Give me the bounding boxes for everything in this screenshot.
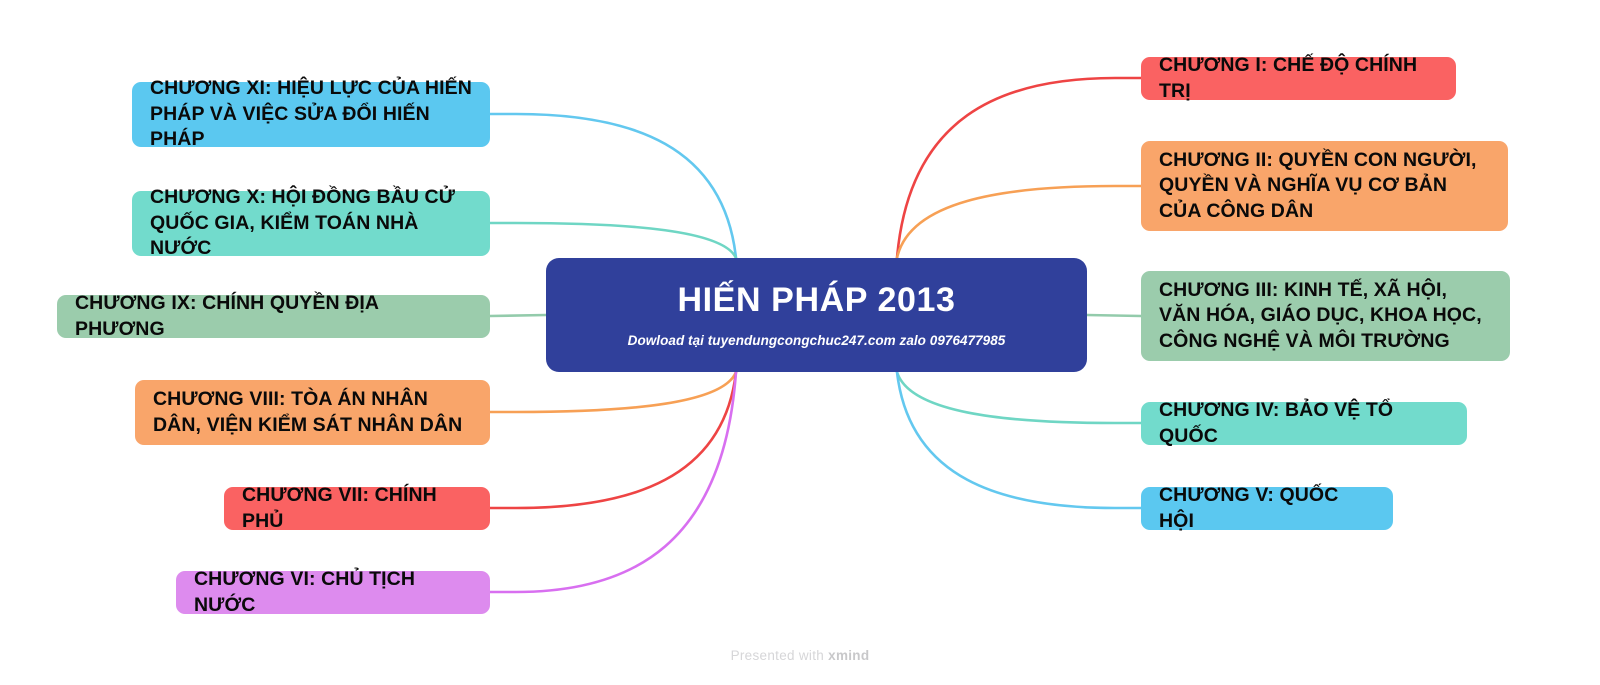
connector-edge [490, 372, 736, 412]
central-topic-title: HIẾN PHÁP 2013 [677, 282, 955, 319]
topic-node-label: CHƯƠNG VI: CHỦ TỊCH NƯỚC [194, 567, 472, 618]
topic-node-label: CHƯƠNG IV: BẢO VỆ TỔ QUỐC [1159, 398, 1449, 449]
topic-node[interactable]: CHƯƠNG XI: HIỆU LỰC CỦA HIẾN PHÁP VÀ VIỆ… [132, 82, 490, 147]
connector-edge [1087, 315, 1141, 316]
connector-edge [897, 78, 1141, 258]
topic-node[interactable]: CHƯƠNG IX: CHÍNH QUYỀN ĐỊA PHƯƠNG [57, 295, 490, 338]
topic-node-label: CHƯƠNG II: QUYỀN CON NGƯỜI, QUYỀN VÀ NGH… [1159, 148, 1490, 224]
xmind-watermark: Presented with xmind [0, 648, 1600, 663]
connector-edge [490, 372, 736, 592]
watermark-prefix: Presented with [731, 648, 829, 663]
connector-edge [897, 372, 1141, 423]
connector-edge [490, 315, 546, 316]
topic-node[interactable]: CHƯƠNG II: QUYỀN CON NGƯỜI, QUYỀN VÀ NGH… [1141, 141, 1508, 231]
connector-edge [897, 372, 1141, 508]
topic-node-label: CHƯƠNG VIII: TÒA ÁN NHÂN DÂN, VIỆN KIỂM … [153, 387, 472, 438]
connector-edge [490, 372, 736, 508]
connector-edge [490, 114, 736, 258]
topic-node[interactable]: CHƯƠNG VIII: TÒA ÁN NHÂN DÂN, VIỆN KIỂM … [135, 380, 490, 445]
topic-node[interactable]: CHƯƠNG VI: CHỦ TỊCH NƯỚC [176, 571, 490, 614]
topic-node-label: CHƯƠNG VII: CHÍNH PHỦ [242, 483, 472, 534]
central-topic-subtitle: Dowload tại tuyendungcongchuc247.com zal… [628, 333, 1006, 348]
topic-node-label: CHƯƠNG III: KINH TẾ, XÃ HỘI, VĂN HÓA, GI… [1159, 278, 1492, 354]
topic-node-label: CHƯƠNG XI: HIỆU LỰC CỦA HIẾN PHÁP VÀ VIỆ… [150, 76, 472, 152]
connector-edge [897, 186, 1141, 258]
topic-node[interactable]: CHƯƠNG X: HỘI ĐỒNG BẦU CỬ QUỐC GIA, KIỂM… [132, 191, 490, 256]
topic-node[interactable]: CHƯƠNG III: KINH TẾ, XÃ HỘI, VĂN HÓA, GI… [1141, 271, 1510, 361]
topic-node[interactable]: CHƯƠNG VII: CHÍNH PHỦ [224, 487, 490, 530]
topic-node[interactable]: CHƯƠNG I: CHẾ ĐỘ CHÍNH TRỊ [1141, 57, 1456, 100]
watermark-brand: xmind [828, 648, 869, 663]
topic-node[interactable]: CHƯƠNG IV: BẢO VỆ TỔ QUỐC [1141, 402, 1467, 445]
central-topic-node[interactable]: HIẾN PHÁP 2013 Dowload tại tuyendungcong… [546, 258, 1087, 372]
topic-node-label: CHƯƠNG IX: CHÍNH QUYỀN ĐỊA PHƯƠNG [75, 291, 472, 342]
topic-node-label: CHƯƠNG I: CHẾ ĐỘ CHÍNH TRỊ [1159, 53, 1438, 104]
mindmap-canvas: CHƯƠNG I: CHẾ ĐỘ CHÍNH TRỊCHƯƠNG II: QUY… [0, 0, 1600, 685]
topic-node[interactable]: CHƯƠNG V: QUỐC HỘI [1141, 487, 1393, 530]
topic-node-label: CHƯƠNG V: QUỐC HỘI [1159, 483, 1375, 534]
topic-node-label: CHƯƠNG X: HỘI ĐỒNG BẦU CỬ QUỐC GIA, KIỂM… [150, 185, 472, 261]
connector-edge [490, 223, 736, 258]
